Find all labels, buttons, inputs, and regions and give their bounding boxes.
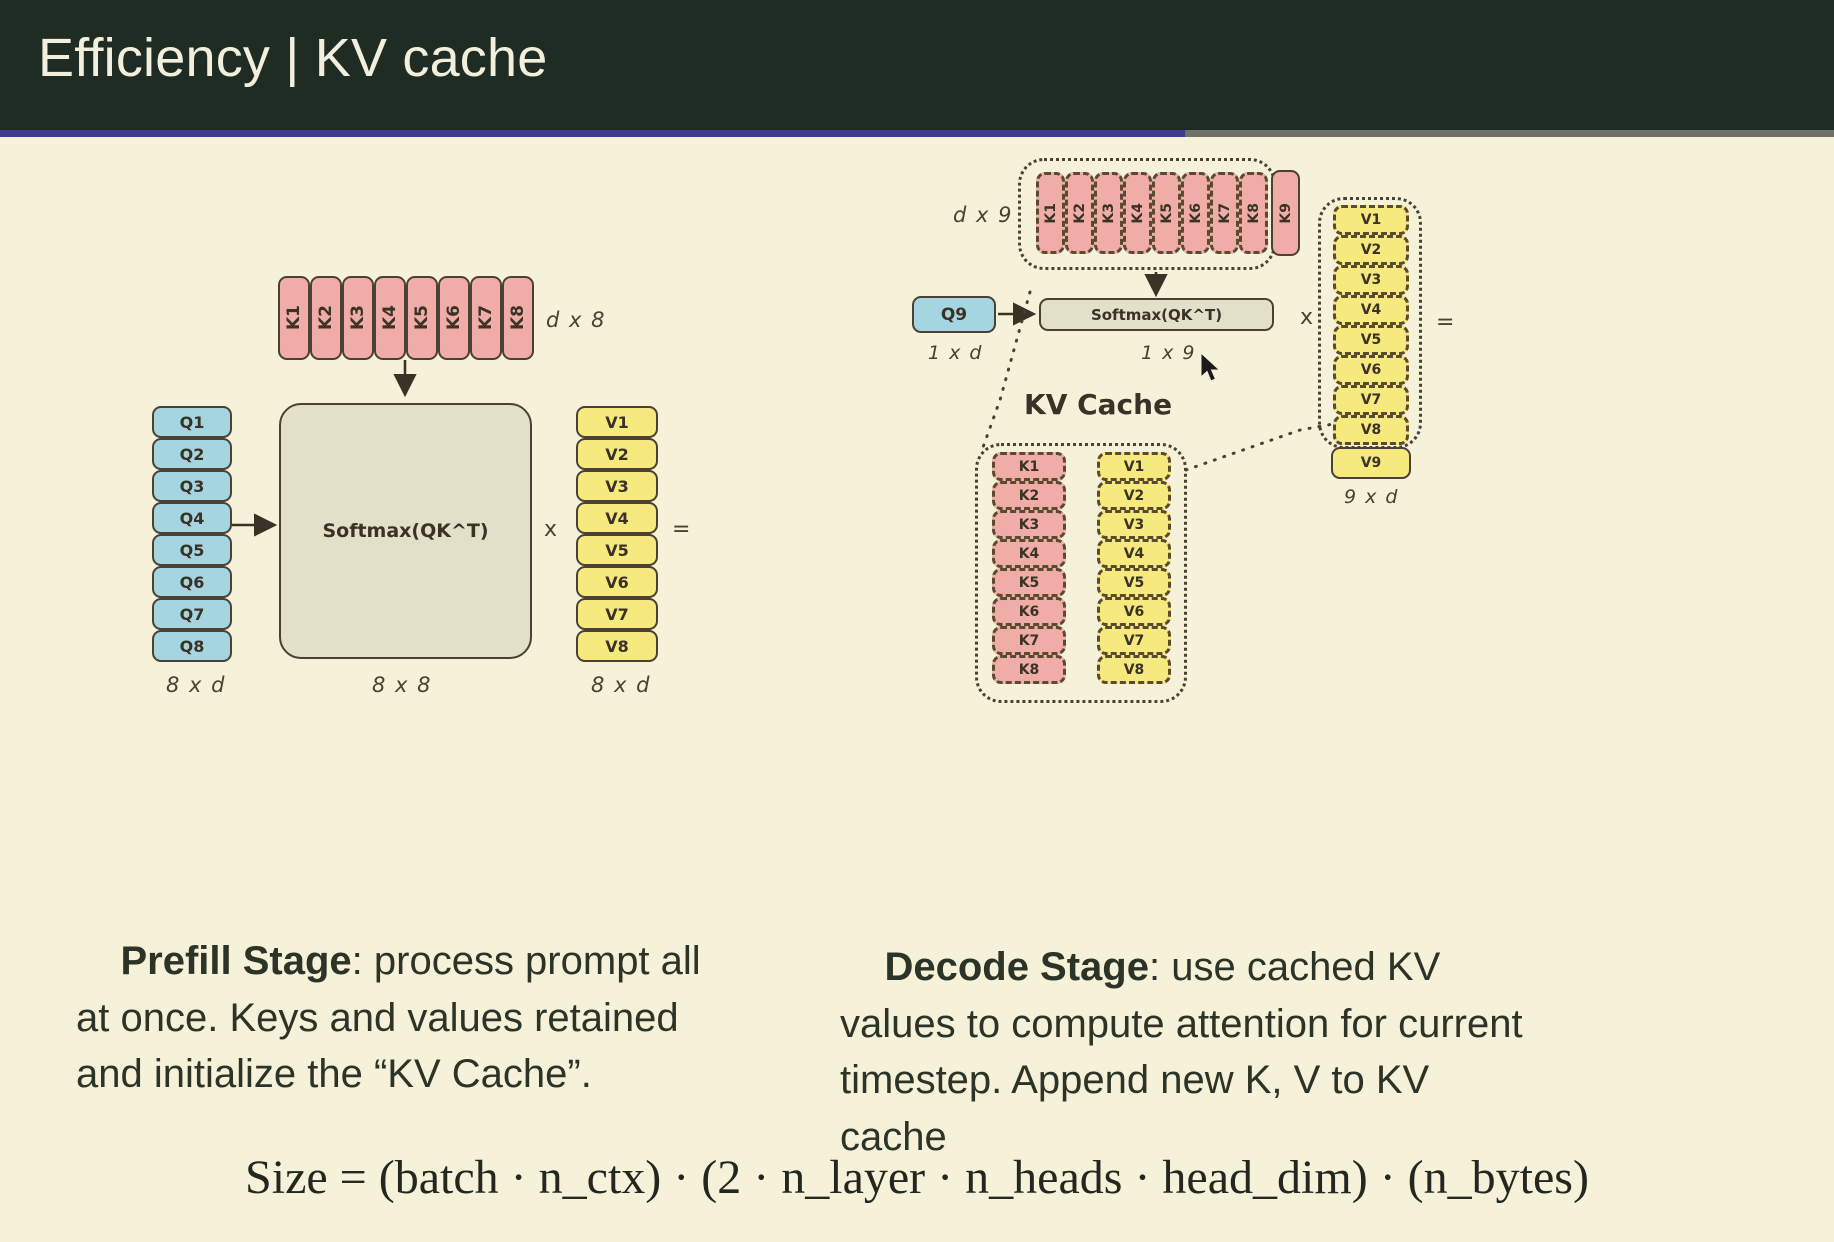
kv-cache-value-cell-label: V5: [1124, 575, 1145, 591]
prefill-query-cell: Q3: [152, 470, 232, 502]
decode-attention-label: Softmax(QK^T): [1091, 306, 1222, 324]
prefill-value-cell: V4: [576, 502, 658, 534]
prefill-key-cell: K4: [374, 276, 406, 360]
prefill-key-cell-label: K3: [348, 305, 368, 330]
prefill-key-cell: K7: [470, 276, 502, 360]
decode-cached-value-cell-label: V5: [1361, 332, 1382, 348]
kv-cache-key-cell: K6: [992, 597, 1066, 626]
decode-cached-key-cell-label: K3: [1101, 203, 1117, 224]
kv-cache-value-cell-label: V3: [1124, 517, 1145, 533]
prefill-key-cell-label: K2: [316, 305, 336, 330]
prefill-key-cell-label: K8: [508, 305, 528, 330]
prefill-value-cell: V1: [576, 406, 658, 438]
prefill-query-cell: Q4: [152, 502, 232, 534]
slide-header: Efficiency | KV cache: [0, 0, 1834, 130]
decode-cached-key-cell-label: K5: [1159, 203, 1175, 224]
decode-cached-value-cell: V4: [1333, 295, 1409, 325]
prefill-caption-bold: Prefill Stage: [120, 939, 351, 983]
prefill-query-cell-label: Q6: [180, 573, 205, 592]
kv-cache-key-cell-label: K6: [1019, 604, 1040, 620]
decode-cached-value-cell: V6: [1333, 355, 1409, 385]
kv-cache-value-cell-label: V7: [1124, 633, 1145, 649]
prefill-query-cell: Q5: [152, 534, 232, 566]
prefill-equals-symbol: =: [672, 517, 690, 542]
prefill-queries-dim-label: 8 x d: [166, 673, 226, 697]
decode-cached-key-cell-label: K4: [1130, 203, 1146, 224]
prefill-query-cell-label: Q3: [180, 477, 205, 496]
decode-cached-key-cell-label: K6: [1188, 203, 1204, 224]
prefill-query-cell: Q2: [152, 438, 232, 470]
prefill-query-cell-label: Q7: [180, 605, 205, 624]
prefill-value-cell-label: V8: [605, 637, 629, 656]
decode-attention-dim-label: 1 x 9: [1141, 342, 1196, 364]
decode-cached-value-cell: V2: [1333, 235, 1409, 265]
prefill-key-cell-label: K1: [284, 305, 304, 330]
decode-cached-key-cell: K3: [1094, 172, 1123, 254]
kv-cache-value-cell: V1: [1097, 452, 1171, 481]
decode-cached-key-cell-label: K8: [1246, 203, 1262, 224]
kv-cache-value-cell-label: V4: [1124, 546, 1145, 562]
kv-cache-key-cell-label: K8: [1019, 662, 1040, 678]
decode-cached-value-cell-label: V2: [1361, 242, 1382, 258]
decode-cached-key-cell: K5: [1152, 172, 1181, 254]
kv-cache-value-cell: V5: [1097, 568, 1171, 597]
decode-cached-value-cell-label: V7: [1361, 392, 1382, 408]
prefill-value-cell: V6: [576, 566, 658, 598]
kv-cache-value-cell-label: V2: [1124, 488, 1145, 504]
decode-new-key-cell-label: K9: [1278, 203, 1294, 224]
prefill-value-cell-label: V5: [605, 541, 629, 560]
prefill-query-cell: Q7: [152, 598, 232, 630]
decode-cached-key-cell: K7: [1210, 172, 1239, 254]
prefill-key-cell-label: K4: [380, 305, 400, 330]
decode-multiply-symbol: x: [1300, 305, 1313, 330]
decode-cached-value-cell: V8: [1333, 415, 1409, 445]
kv-cache-value-cell-label: V6: [1124, 604, 1145, 620]
mouse-cursor-icon: [1200, 352, 1226, 386]
decode-query-label: Q9: [941, 305, 967, 325]
kv-cache-value-cell-label: V1: [1124, 459, 1145, 475]
decode-cached-key-cell: K1: [1036, 172, 1065, 254]
prefill-keys-dim-label: d x 8: [546, 308, 606, 332]
decode-cached-key-cell: K6: [1181, 172, 1210, 254]
decode-caption-bold: Decode Stage: [884, 945, 1149, 989]
prefill-value-cell-label: V3: [605, 477, 629, 496]
kv-cache-value-cell: V6: [1097, 597, 1171, 626]
kv-cache-value-cell: V8: [1097, 655, 1171, 684]
decode-cached-value-cell-label: V1: [1361, 212, 1382, 228]
kv-cache-key-cell: K5: [992, 568, 1066, 597]
kv-cache-key-cell-label: K5: [1019, 575, 1040, 591]
prefill-value-cell: V2: [576, 438, 658, 470]
prefill-query-cell: Q1: [152, 406, 232, 438]
decode-cached-key-cell-label: K7: [1217, 203, 1233, 224]
prefill-value-cell-label: V4: [605, 509, 629, 528]
prefill-key-cell: K5: [406, 276, 438, 360]
slide-root: Efficiency | KV cache K1K2K3K4K5K6K7K8 d…: [0, 0, 1834, 1242]
decode-cached-value-cell-label: V6: [1361, 362, 1382, 378]
kv-cache-value-cell: V3: [1097, 510, 1171, 539]
kv-cache-key-cell-label: K3: [1019, 517, 1040, 533]
decode-query-box: Q9: [912, 296, 996, 333]
kv-cache-key-cell: K1: [992, 452, 1066, 481]
kv-cache-size-formula: Size = (batch · n_ctx) · (2 · n_layer · …: [0, 1150, 1834, 1205]
decode-cached-value-cell: V7: [1333, 385, 1409, 415]
decode-cached-key-cell-label: K2: [1072, 203, 1088, 224]
prefill-key-cell-label: K5: [412, 305, 432, 330]
kv-cache-key-cell: K4: [992, 539, 1066, 568]
prefill-value-cell-label: V7: [605, 605, 629, 624]
kv-cache-value-cell: V2: [1097, 481, 1171, 510]
kv-cache-value-cell: V4: [1097, 539, 1171, 568]
kv-cache-value-cell-label: V8: [1124, 662, 1145, 678]
prefill-query-cell: Q6: [152, 566, 232, 598]
prefill-value-cell: V5: [576, 534, 658, 566]
progress-fill: [0, 130, 1185, 137]
prefill-key-cell: K3: [342, 276, 374, 360]
prefill-key-cell-label: K7: [476, 305, 496, 330]
kv-cache-title: KV Cache: [1024, 388, 1172, 421]
kv-cache-key-cell-label: K4: [1019, 546, 1040, 562]
decode-query-dim-label: 1 x d: [928, 342, 983, 364]
decode-new-key-cell: K9: [1271, 170, 1300, 256]
kv-cache-key-cell-label: K1: [1019, 459, 1040, 475]
decode-new-value-cell-label: V9: [1361, 455, 1382, 471]
prefill-attention-matrix: Softmax(QK^T): [279, 403, 532, 659]
prefill-key-cell: K1: [278, 276, 310, 360]
prefill-attention-label: Softmax(QK^T): [322, 520, 488, 542]
decode-cached-value-cell: V3: [1333, 265, 1409, 295]
decode-attention-bar: Softmax(QK^T): [1039, 298, 1274, 331]
prefill-value-cell-label: V6: [605, 573, 629, 592]
prefill-key-cell: K2: [310, 276, 342, 360]
prefill-key-cell: K6: [438, 276, 470, 360]
kv-cache-key-cell-label: K2: [1019, 488, 1040, 504]
decode-cached-key-cell: K2: [1065, 172, 1094, 254]
kv-cache-key-cell-label: K7: [1019, 633, 1040, 649]
decode-keys-dim-label: d x 9: [953, 203, 1013, 227]
decode-cached-key-cell: K8: [1239, 172, 1268, 254]
kv-cache-value-cell: V7: [1097, 626, 1171, 655]
prefill-key-cell-label: K6: [444, 305, 464, 330]
prefill-values-dim-label: 8 x d: [591, 673, 651, 697]
kv-cache-key-cell: K7: [992, 626, 1066, 655]
kv-cache-key-cell: K2: [992, 481, 1066, 510]
decode-cached-key-cell-label: K1: [1043, 203, 1059, 224]
progress-track[interactable]: [0, 130, 1834, 137]
prefill-key-cell: K8: [502, 276, 534, 360]
decode-values-dim-label: 9 x d: [1344, 486, 1399, 508]
prefill-query-cell-label: Q5: [180, 541, 205, 560]
decode-equals-symbol: =: [1436, 310, 1454, 335]
prefill-query-cell-label: Q2: [180, 445, 205, 464]
prefill-value-cell: V3: [576, 470, 658, 502]
prefill-attention-dim-label: 8 x 8: [372, 673, 432, 697]
prefill-multiply-symbol: x: [544, 517, 557, 542]
prefill-query-cell: Q8: [152, 630, 232, 662]
prefill-value-cell-label: V1: [605, 413, 629, 432]
prefill-value-cell: V8: [576, 630, 658, 662]
prefill-query-cell-label: Q8: [180, 637, 205, 656]
kv-cache-key-cell: K8: [992, 655, 1066, 684]
kv-cache-key-cell: K3: [992, 510, 1066, 539]
decode-new-value-cell: V9: [1331, 447, 1411, 479]
prefill-value-cell: V7: [576, 598, 658, 630]
decode-cached-value-cell: V1: [1333, 205, 1409, 235]
prefill-query-cell-label: Q1: [180, 413, 205, 432]
page-title: Efficiency | KV cache: [38, 27, 547, 89]
decode-cached-key-cell: K4: [1123, 172, 1152, 254]
prefill-value-cell-label: V2: [605, 445, 629, 464]
decode-cached-value-cell-label: V4: [1361, 302, 1382, 318]
prefill-query-cell-label: Q4: [180, 509, 205, 528]
prefill-caption: Prefill Stage: process prompt all at onc…: [76, 876, 736, 1160]
decode-cached-value-cell-label: V3: [1361, 272, 1382, 288]
decode-cached-value-cell-label: V8: [1361, 422, 1382, 438]
decode-cached-value-cell: V5: [1333, 325, 1409, 355]
